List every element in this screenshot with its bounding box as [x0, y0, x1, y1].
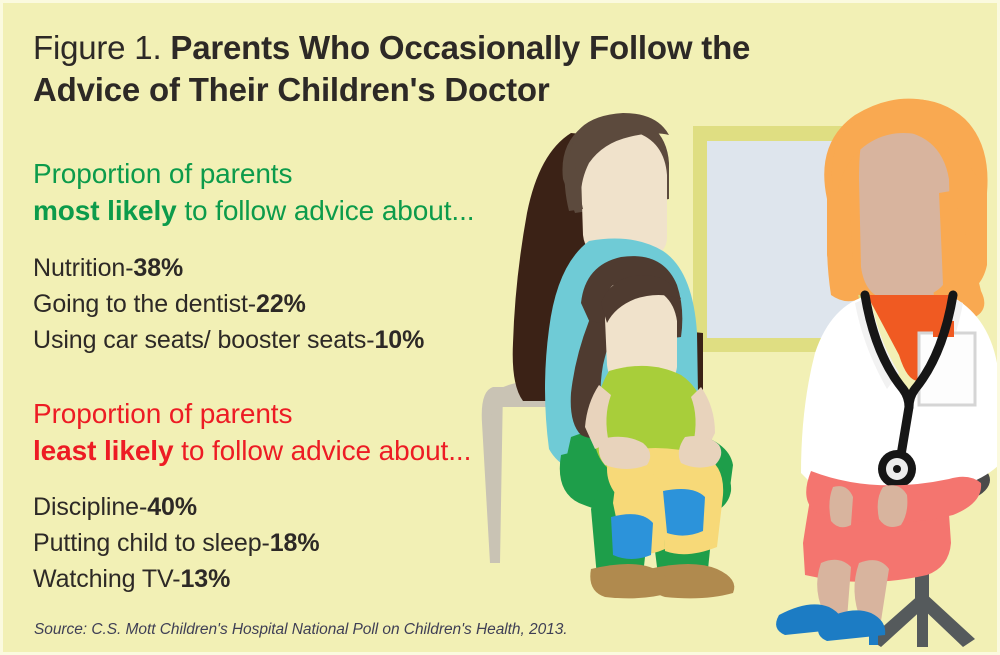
list-item: Watching TV-13% [33, 562, 633, 598]
list-item: Discipline-40% [33, 490, 633, 526]
item-value: 10% [375, 326, 425, 354]
item-value: 22% [256, 290, 306, 318]
list-least-likely: Discipline-40% Putting child to sleep-18… [33, 490, 633, 597]
list-most-likely: Nutrition-38% Going to the dentist-22% U… [33, 251, 633, 358]
heading-most-likely: Proportion of parents most likely to fol… [33, 156, 633, 230]
source-note: Source: C.S. Mott Children's Hospital Na… [34, 621, 568, 639]
item-label: Going to the dentist- [33, 290, 256, 318]
item-value: 38% [133, 254, 183, 282]
heading-least-likely-line1: Proportion of parents [33, 398, 292, 429]
heading-most-likely-rest: to follow advice about... [177, 195, 475, 226]
item-label: Putting child to sleep- [33, 529, 270, 557]
item-label: Nutrition- [33, 254, 133, 282]
text-layer: Figure 1. Parents Who Occasionally Follo… [3, 3, 1000, 655]
heading-most-likely-line1: Proportion of parents [33, 158, 292, 189]
item-value: 13% [180, 565, 230, 593]
list-item: Using car seats/ booster seats-10% [33, 323, 633, 359]
list-item: Nutrition-38% [33, 251, 633, 287]
item-label: Watching TV- [33, 565, 180, 593]
infographic-poster: Figure 1. Parents Who Occasionally Follo… [0, 0, 1000, 655]
item-label: Using car seats/ booster seats- [33, 326, 375, 354]
figure-label: Figure 1. [33, 29, 161, 66]
list-item: Going to the dentist-22% [33, 287, 633, 323]
list-item: Putting child to sleep-18% [33, 526, 633, 562]
heading-least-likely-rest: to follow advice about... [173, 435, 471, 466]
page-title: Figure 1. Parents Who Occasionally Follo… [33, 27, 863, 111]
heading-most-likely-emphasis: most likely [33, 195, 177, 226]
heading-least-likely-emphasis: least likely [33, 435, 173, 466]
item-label: Discipline- [33, 493, 147, 521]
heading-least-likely: Proportion of parents least likely to fo… [33, 396, 633, 470]
item-value: 18% [270, 529, 320, 557]
item-value: 40% [147, 493, 197, 521]
